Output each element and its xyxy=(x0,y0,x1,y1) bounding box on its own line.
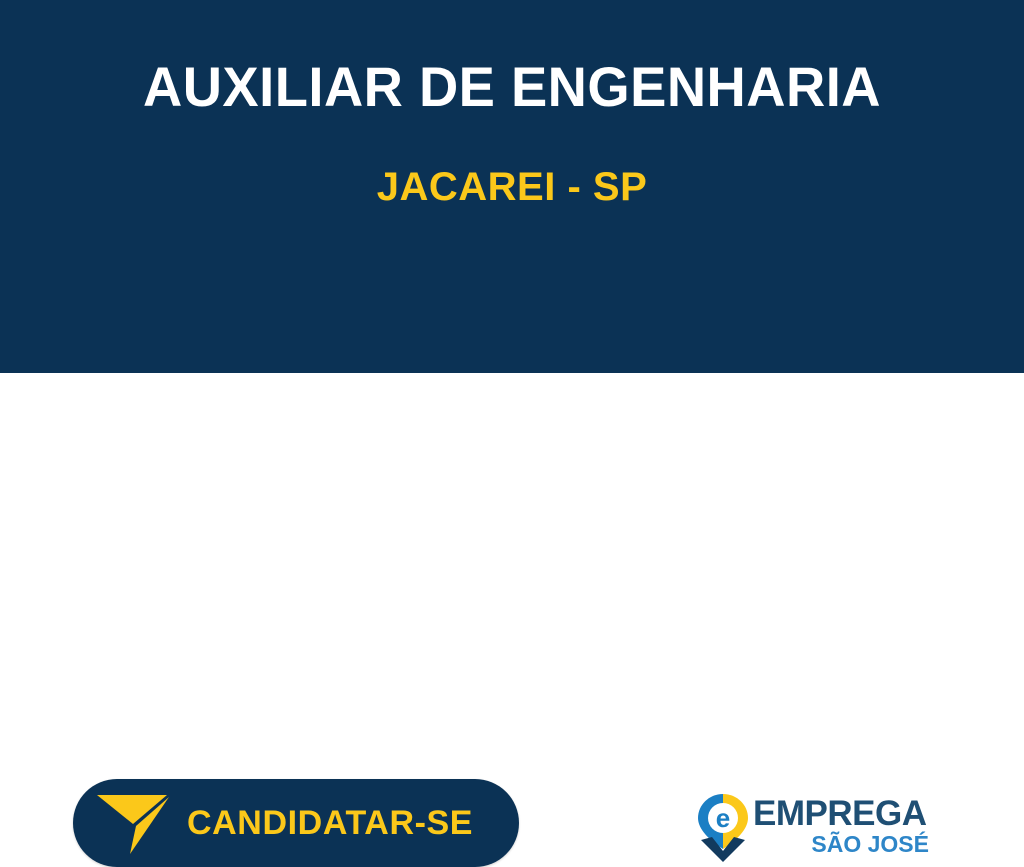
apply-button[interactable]: CANDIDATAR-SE xyxy=(73,779,519,867)
brand-wordmark: EMPREGA SÃO JOSÉ xyxy=(753,791,929,867)
job-title: AUXILIAR DE ENGENHARIA xyxy=(15,55,1008,119)
brand-logo[interactable]: e EMPREGA SÃO JOSÉ xyxy=(697,791,929,867)
job-posting-card: AUXILIAR DE ENGENHARIA JACAREI - SP CAND… xyxy=(0,0,1024,538)
job-location: JACAREI - SP xyxy=(0,164,1024,210)
paper-plane-send-icon xyxy=(95,790,173,856)
map-pin-e-icon: e xyxy=(697,793,749,863)
footer-bar: CANDIDATAR-SE e EMPREGA SÃO JOSÉ xyxy=(0,373,1024,538)
svg-text:e: e xyxy=(716,803,730,833)
hero-banner: AUXILIAR DE ENGENHARIA JACAREI - SP xyxy=(0,0,1024,373)
brand-name: EMPREGA xyxy=(753,795,926,833)
apply-button-label: CANDIDATAR-SE xyxy=(187,804,473,843)
brand-city: SÃO JOSÉ xyxy=(811,831,929,857)
